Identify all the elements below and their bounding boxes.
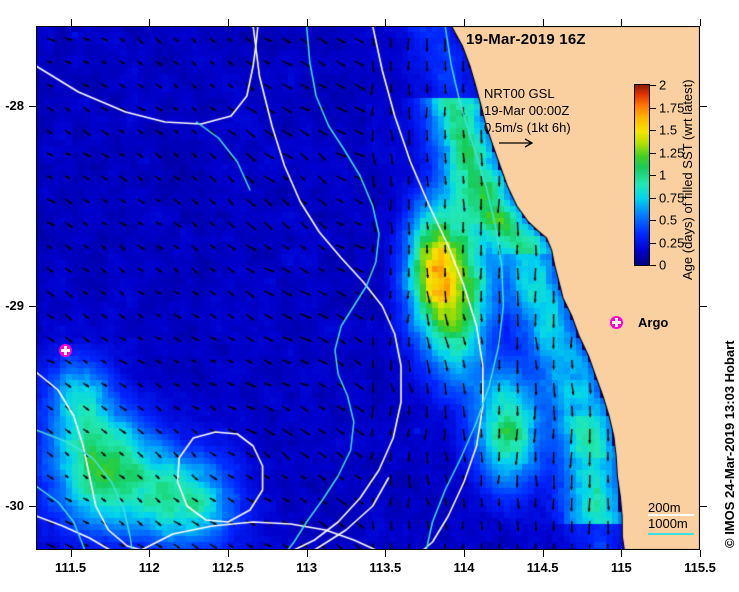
depth-200-swatch <box>648 514 694 516</box>
colorbar-tick <box>650 108 656 109</box>
x-axis-tick <box>307 550 308 557</box>
colorbar-tick <box>650 243 656 244</box>
x-axis-tick <box>543 550 544 557</box>
depth-1000-label: 1000m <box>648 516 688 532</box>
page-title: 19-Mar-2019 16Z <box>466 31 586 48</box>
annotation-source: NRT00 GSL <box>484 85 571 102</box>
y-axis-tick-right <box>700 506 707 507</box>
x-axis-label: 115 <box>591 560 651 575</box>
x-axis-label: 112.5 <box>198 560 258 575</box>
colorbar-tick-label: 0 <box>659 258 666 273</box>
y-axis-label: -28 <box>0 98 24 113</box>
colorbar-gradient <box>634 84 650 266</box>
x-axis-tick-top <box>385 19 386 26</box>
colorbar-tick <box>650 153 656 154</box>
x-axis-tick-top <box>307 19 308 26</box>
argo-legend-label: Argo <box>638 315 668 330</box>
x-axis-label: 114.5 <box>513 560 573 575</box>
x-axis-label: 112 <box>119 560 179 575</box>
x-axis-label: 114 <box>434 560 494 575</box>
x-axis-tick-top <box>464 19 465 26</box>
x-axis-tick-top <box>149 19 150 26</box>
colorbar-tick <box>650 175 656 176</box>
colorbar-tick-label: 0.5 <box>659 213 677 228</box>
x-axis-tick-top <box>228 19 229 26</box>
x-axis-tick <box>71 550 72 557</box>
current-annotation: NRT00 GSL 19-Mar 00:00Z 0.5m/s (1kt 6h) <box>484 85 571 136</box>
annotation-scale: 0.5m/s (1kt 6h) <box>484 119 571 136</box>
x-axis-tick-top <box>621 19 622 26</box>
colorbar-tick <box>650 85 656 86</box>
x-axis-tick <box>385 550 386 557</box>
depth-1000-swatch <box>648 533 694 535</box>
map-plot-area[interactable] <box>36 26 700 550</box>
x-axis-label: 113.5 <box>355 560 415 575</box>
x-axis-tick <box>228 550 229 557</box>
colorbar-label: Age (days) of filled SST (wrt latest) <box>680 79 695 280</box>
colorbar-tick <box>650 265 656 266</box>
y-axis-label: -29 <box>0 298 24 313</box>
x-axis-tick <box>700 550 701 557</box>
coastline-land <box>36 26 700 550</box>
right-arrow-icon <box>498 137 536 149</box>
x-axis-tick-top <box>543 19 544 26</box>
y-axis-tick <box>29 506 36 507</box>
y-axis-label: -30 <box>0 498 24 513</box>
annotation-time: 19-Mar 00:00Z <box>484 102 571 119</box>
y-axis-tick-right <box>700 106 707 107</box>
credit-text: © IMOS 24-Mar-2019 13:03 Hobart <box>722 340 737 548</box>
x-axis-tick <box>149 550 150 557</box>
depth-legend: 200m 1000m <box>648 500 688 532</box>
colorbar-tick-label: 1 <box>659 168 666 183</box>
figure-canvas: 19-Mar-2019 16Z NRT00 GSL 19-Mar 00:00Z … <box>0 0 739 592</box>
x-axis-tick <box>621 550 622 557</box>
colorbar-tick <box>650 198 656 199</box>
argo-legend-marker-icon <box>610 316 623 329</box>
y-axis-tick <box>29 106 36 107</box>
y-axis-tick <box>29 306 36 307</box>
colorbar-tick-label: 1.5 <box>659 123 677 138</box>
x-axis-tick <box>464 550 465 557</box>
argo-legend: Argo <box>610 313 710 333</box>
argo-float-marker[interactable] <box>59 344 72 357</box>
x-axis-label: 111.5 <box>41 560 101 575</box>
x-axis-label: 113 <box>277 560 337 575</box>
y-axis-tick-right <box>700 306 707 307</box>
colorbar-tick-label: 2 <box>659 78 666 93</box>
x-axis-tick-top <box>700 19 701 26</box>
colorbar-tick <box>650 220 656 221</box>
x-axis-tick-top <box>71 19 72 26</box>
x-axis-label: 115.5 <box>670 560 730 575</box>
colorbar-tick <box>650 130 656 131</box>
